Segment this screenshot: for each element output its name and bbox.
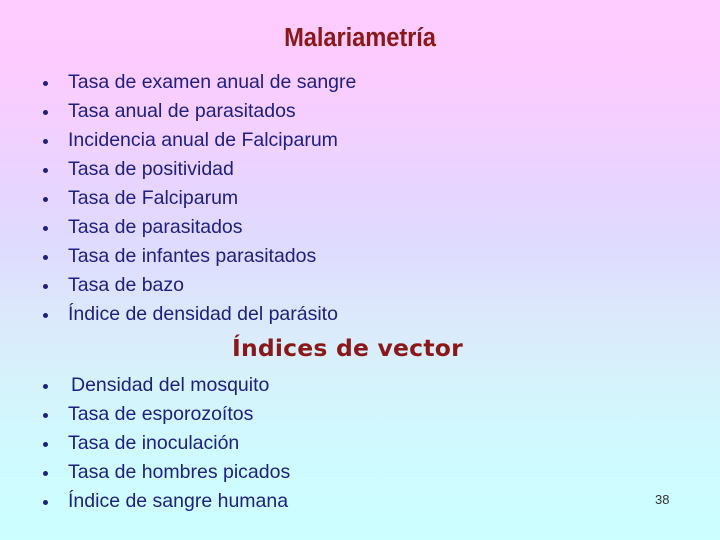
list-item-label: Tasa de examen anual de sangre — [68, 71, 356, 93]
malariametria-bullet-list: Tasa de examen anual de sangre Tasa anua… — [0, 68, 720, 329]
bullet-dot-icon — [43, 255, 48, 260]
bullet-dot-icon — [43, 413, 48, 418]
bullet-dot-icon — [43, 313, 48, 318]
list-item-label: Tasa de positividad — [68, 158, 234, 180]
list-item-label: Densidad del mosquito — [71, 374, 269, 396]
list-item: Tasa de positividad — [0, 155, 720, 184]
list-item: Tasa de esporozoítos — [0, 400, 720, 429]
bullet-dot-icon — [43, 500, 48, 505]
list-item-label: Tasa de bazo — [68, 274, 184, 296]
list-item: Densidad del mosquito — [0, 371, 720, 400]
bullet-dot-icon — [43, 110, 48, 115]
list-item-label: Tasa de infantes parasitados — [68, 245, 316, 267]
list-item-label: Tasa de parasitados — [68, 216, 243, 238]
bullet-dot-icon — [43, 442, 48, 447]
list-item-label: Tasa de inoculación — [68, 432, 239, 454]
list-item-label: Índice de densidad del parásito — [68, 303, 338, 325]
list-item-label: Tasa de hombres picados — [68, 461, 290, 483]
list-item-label: Tasa de Falciparum — [68, 187, 238, 209]
bullet-dot-icon — [43, 226, 48, 231]
vector-bullet-list: Densidad del mosquito Tasa de esporozoít… — [0, 371, 720, 516]
list-item-label: Incidencia anual de Falciparum — [68, 129, 338, 151]
list-item: Tasa de bazo — [0, 271, 720, 300]
bullet-dot-icon — [43, 168, 48, 173]
list-item-label: Tasa anual de parasitados — [68, 100, 296, 122]
list-item: Tasa de parasitados — [0, 213, 720, 242]
bullet-dot-icon — [43, 471, 48, 476]
bullet-dot-icon — [43, 384, 48, 389]
section-heading-vector: Índices de vector — [0, 334, 720, 362]
bullet-dot-icon — [43, 197, 48, 202]
bullet-dot-icon — [43, 81, 48, 86]
list-item: Tasa de infantes parasitados — [0, 242, 720, 271]
list-item-label: Índice de sangre humana — [68, 490, 288, 512]
list-item: Tasa de Falciparum — [0, 184, 720, 213]
page-number: 38 — [655, 492, 669, 507]
list-item: Tasa de hombres picados — [0, 458, 720, 487]
list-item: Índice de densidad del parásito — [0, 300, 720, 329]
bullet-dot-icon — [43, 139, 48, 144]
list-item-label: Tasa de esporozoítos — [68, 403, 253, 425]
list-item: Tasa anual de parasitados — [0, 97, 720, 126]
list-item: Tasa de examen anual de sangre — [0, 68, 720, 97]
list-item: Tasa de inoculación — [0, 429, 720, 458]
bullet-dot-icon — [43, 284, 48, 289]
page-title: Malariametría — [25, 24, 695, 53]
list-item: Índice de sangre humana — [0, 487, 720, 516]
list-item: Incidencia anual de Falciparum — [0, 126, 720, 155]
slide-canvas: Malariametría Tasa de examen anual de sa… — [0, 0, 720, 540]
